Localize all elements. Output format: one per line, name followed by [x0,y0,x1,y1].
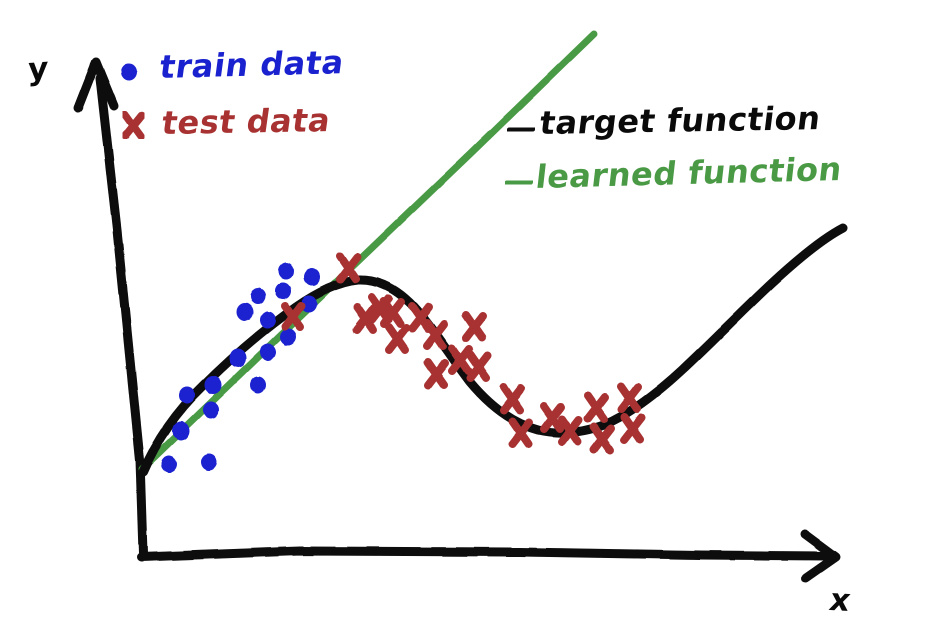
train-point [161,456,177,473]
test-point [621,386,638,409]
sketch-svg [0,0,932,636]
train-data-points [161,263,320,473]
legend-test-cross-icon [125,114,142,136]
test-point [470,355,487,378]
target-function-curve [143,228,843,472]
train-point [278,263,294,280]
train-point [251,288,266,304]
train-point [275,283,291,300]
train-point [304,269,320,286]
test-point [466,315,483,338]
x-axis-line [141,551,828,557]
train-point [237,303,254,321]
test-point [624,417,641,440]
train-point [250,377,266,394]
legend-train-dot-icon [121,64,137,81]
train-point [173,422,190,441]
train-point [260,312,276,329]
test-point [428,362,445,385]
test-point [588,396,605,419]
test-point [504,387,521,410]
train-point [280,329,296,346]
train-point [203,402,219,419]
train-point [179,387,195,404]
legend-item-target-function: target function [538,99,823,142]
y-axis-line [100,78,143,553]
train-point [260,344,276,361]
legend-item-learned-function: learned function [534,150,844,196]
train-point [205,376,222,394]
legend-item-train-data: train data [157,43,346,86]
legend-learned-dash-icon [508,181,530,184]
target-function-line [143,228,843,472]
test-point [389,327,406,350]
sketch-canvas: y x train data test data target function… [0,0,932,636]
legend-item-test-data: test data [159,101,333,142]
test-point [594,427,611,450]
axis-label-y: y [27,50,49,88]
train-point [201,454,217,471]
legend-target-dash-icon [510,128,532,131]
train-point [230,349,247,368]
y-axis-arrowhead-icon [78,62,114,108]
